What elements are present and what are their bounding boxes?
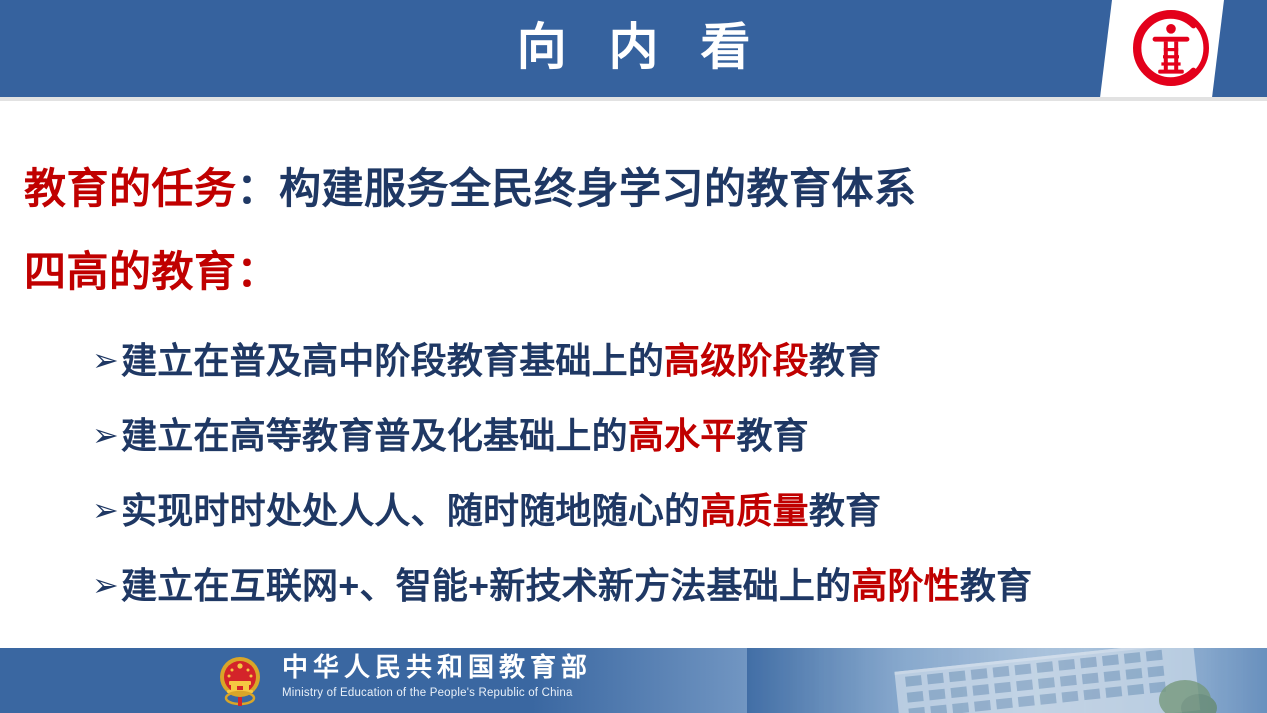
slide-content: 教育的任务：构建服务全民终身学习的教育体系 四高的教育： ➢建立在普及高中阶段教… bbox=[0, 101, 1267, 647]
slide-header-band: 向 内 看 bbox=[0, 0, 1267, 97]
arrow-right-icon: ➢ bbox=[92, 567, 119, 603]
list-item-text-highlight: 高阶性 bbox=[851, 565, 960, 606]
china-national-emblem-icon bbox=[214, 653, 266, 709]
four-high-heading: 四高的教育： bbox=[24, 247, 279, 297]
task-heading-body: ：构建服务全民终身学习的教育体系 bbox=[237, 165, 917, 212]
list-item-text-pre: 建立在普及高中阶段教育基础上的 bbox=[121, 340, 664, 381]
list-item: ➢建立在互联网+、智能+新技术新方法基础上的高阶性教育 bbox=[92, 564, 1032, 609]
page-title: 向 内 看 bbox=[0, 14, 1267, 80]
list-item-text-pre: 实现时时处处人人、随时随地随心的 bbox=[121, 490, 700, 531]
list-item-text-pre: 建立在互联网+、智能+新技术新方法基础上的 bbox=[121, 565, 851, 606]
list-item-text-post: 教育 bbox=[736, 415, 808, 456]
organization-logo-icon bbox=[1131, 8, 1211, 88]
ministry-building-photo bbox=[747, 648, 1267, 713]
footer-org-block: 中华人民共和国教育部 Ministry of Education of the … bbox=[282, 652, 702, 701]
list-item-text-post: 教育 bbox=[960, 565, 1032, 606]
four-high-heading-label: 四高的教育： bbox=[24, 248, 279, 295]
arrow-right-icon: ➢ bbox=[92, 417, 119, 453]
list-item-text-highlight: 高级阶段 bbox=[664, 340, 809, 381]
task-heading-label: 教育的任务 bbox=[24, 165, 237, 212]
arrow-right-icon: ➢ bbox=[92, 492, 119, 528]
slide-canvas: 向 内 看 教育的任务：构建服务全民终身学习的教育体系 四高的教育： ➢建立在普… bbox=[0, 0, 1267, 713]
arrow-right-icon: ➢ bbox=[92, 342, 119, 378]
list-item: ➢建立在普及高中阶段教育基础上的高级阶段教育 bbox=[92, 339, 881, 384]
list-item-text-highlight: 高水平 bbox=[628, 415, 737, 456]
footer-org-name-cn: 中华人民共和国教育部 bbox=[282, 652, 702, 684]
list-item: ➢建立在高等教育普及化基础上的高水平教育 bbox=[92, 414, 809, 459]
list-item-text-post: 教育 bbox=[809, 490, 881, 531]
list-item: ➢实现时时处处人人、随时随地随心的高质量教育 bbox=[92, 489, 881, 534]
footer-org-name-en: Ministry of Education of the People's Re… bbox=[282, 685, 702, 701]
list-item-text-pre: 建立在高等教育普及化基础上的 bbox=[121, 415, 628, 456]
list-item-text-highlight: 高质量 bbox=[700, 490, 809, 531]
list-item-text-post: 教育 bbox=[809, 340, 881, 381]
task-heading: 教育的任务：构建服务全民终身学习的教育体系 bbox=[24, 164, 917, 214]
